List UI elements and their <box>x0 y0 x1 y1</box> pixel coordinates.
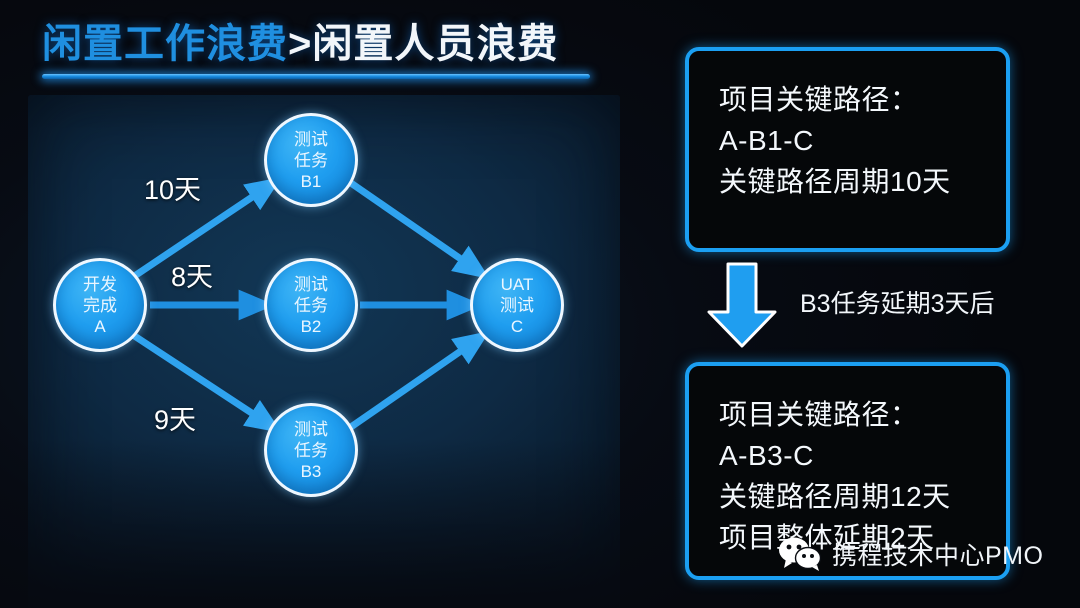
graph-node-b3-line-1: 测试 <box>294 419 328 440</box>
title-underline-rule <box>42 74 590 79</box>
transition-label: B3任务延期3天后 <box>800 284 994 320</box>
watermark: 携程技术中心PMO <box>778 536 1043 572</box>
page-title-rest: >闲置人员浪费 <box>288 22 558 66</box>
graph-node-a-line-3: A <box>94 316 105 337</box>
page-title-highlight: 闲置工作浪费 <box>42 22 288 66</box>
graph-node-a-line-2: 完成 <box>83 295 117 316</box>
graph-node-b2-line-3: B2 <box>301 316 322 337</box>
edge-label-a-to-b2: 8天 <box>171 255 213 294</box>
critical-path-before-line-2: A-B1-C <box>719 120 980 161</box>
edge-b1-to-c <box>348 181 484 275</box>
critical-path-after-line-2: A-B3-C <box>719 435 980 476</box>
wechat-icon <box>778 536 822 572</box>
critical-path-before-box: 项目关键路径： A-B1-C 关键路径周期10天 <box>685 47 1010 252</box>
edge-label-a-to-b1: 10天 <box>144 168 201 207</box>
graph-node-c-line-2: 测试 <box>500 295 534 316</box>
watermark-text: 携程技术中心PMO <box>832 536 1043 572</box>
graph-node-b3-line-2: 任务 <box>294 440 328 461</box>
graph-node-b1-line-3: B1 <box>301 171 322 192</box>
graph-node-b1[interactable]: 测试 任务 B1 <box>264 113 358 207</box>
edge-b3-to-c <box>348 335 484 429</box>
graph-node-c[interactable]: UAT 测试 C <box>470 258 564 352</box>
graph-node-b3[interactable]: 测试 任务 B3 <box>264 403 358 497</box>
page-title: 闲置工作浪费>闲置人员浪费 <box>42 18 642 84</box>
graph-node-b3-line-3: B3 <box>301 461 322 482</box>
graph-node-b1-line-2: 任务 <box>294 150 328 171</box>
critical-path-after-line-1: 项目关键路径： <box>719 394 980 435</box>
diagram-panel: 开发 完成 A 测试 任务 B1 测试 任务 B2 测试 任务 B3 UAT 测… <box>28 95 620 608</box>
graph-node-a-line-1: 开发 <box>83 274 117 295</box>
graph-node-c-line-3: C <box>511 316 523 337</box>
edge-label-a-to-b3: 9天 <box>154 398 196 437</box>
critical-path-before-line-3: 关键路径周期10天 <box>719 161 980 202</box>
graph-node-b2[interactable]: 测试 任务 B2 <box>264 258 358 352</box>
graph-node-b2-line-1: 测试 <box>294 274 328 295</box>
graph-node-b2-line-2: 任务 <box>294 295 328 316</box>
slide-root: 闲置工作浪费>闲置人员浪费 <box>0 0 1080 608</box>
critical-path-after-line-3: 关键路径周期12天 <box>719 476 980 517</box>
graph-node-c-line-1: UAT <box>501 274 534 295</box>
down-arrow-icon <box>705 262 779 348</box>
critical-path-before-line-1: 项目关键路径： <box>719 79 980 120</box>
page-title-text: 闲置工作浪费>闲置人员浪费 <box>42 18 642 70</box>
graph-node-b1-line-1: 测试 <box>294 129 328 150</box>
graph-node-a[interactable]: 开发 完成 A <box>53 258 147 352</box>
